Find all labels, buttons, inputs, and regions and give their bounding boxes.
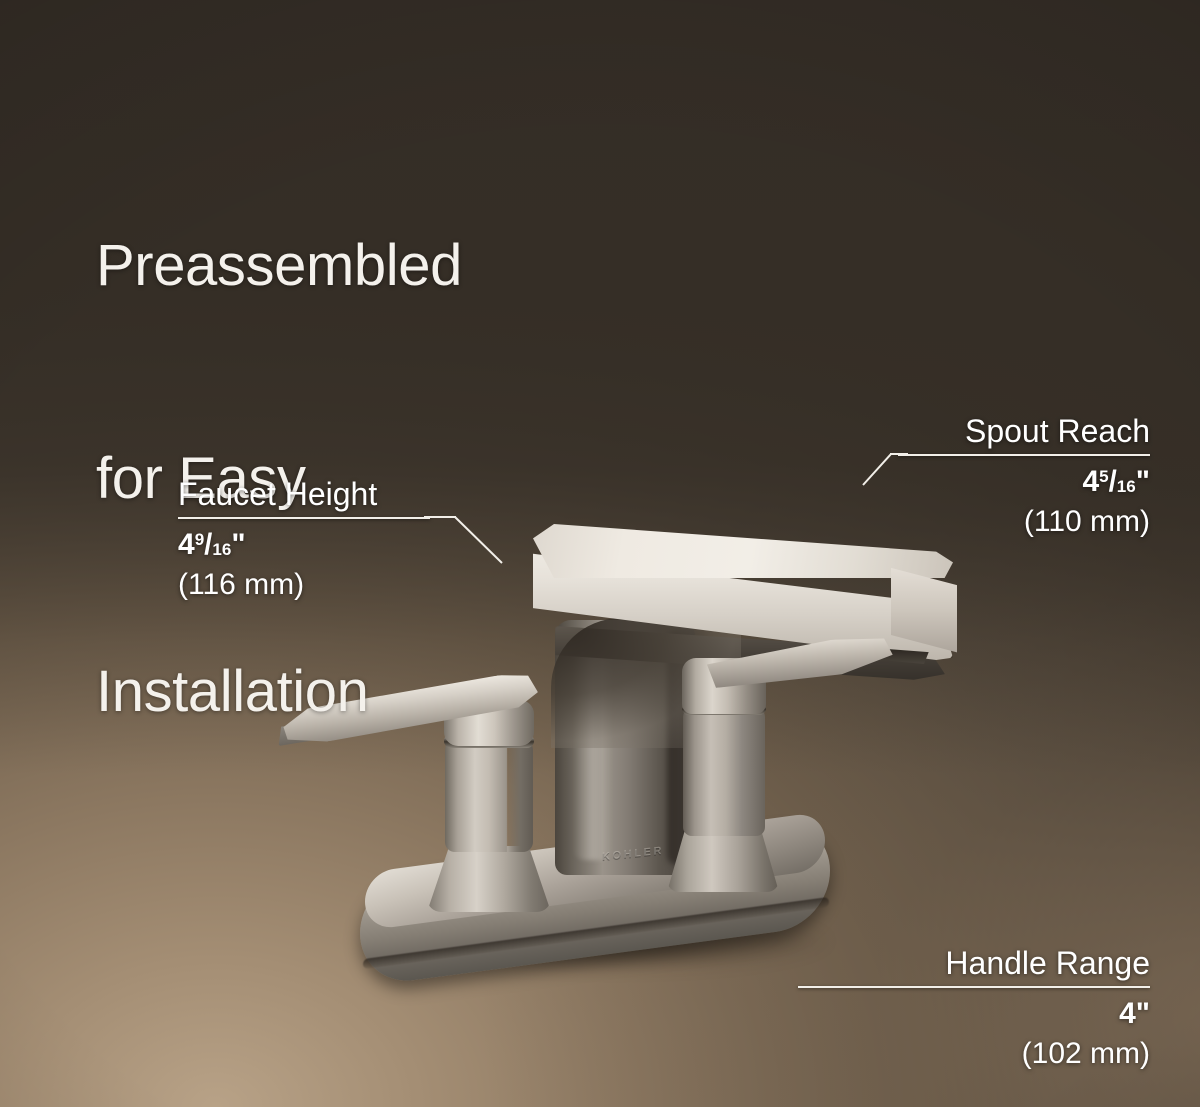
callout-faucet-height-leader	[424, 505, 508, 569]
callout-spout-reach-title: Spout Reach	[898, 412, 1150, 450]
faucet-height-numerator: 9	[195, 530, 204, 549]
callout-handle-range: Handle Range 4" (102 mm)	[798, 944, 1150, 1074]
right-handle-post	[683, 708, 765, 836]
right-handle-base-flare	[667, 830, 779, 892]
spout-reach-denominator: 16	[1117, 477, 1136, 496]
callout-spout-reach-value: 45/16"	[898, 462, 1150, 502]
callout-spout-reach: Spout Reach 45/16" (110 mm)	[898, 412, 1150, 542]
callout-faucet-height-metric: (116 mm)	[178, 565, 430, 605]
callout-faucet-height-rule	[178, 517, 430, 519]
faucet-height-denominator: 16	[212, 540, 231, 559]
callout-faucet-height-title: Faucet Height	[178, 475, 430, 513]
faucet-height-unit: "	[231, 528, 245, 561]
callout-handle-range-rule	[798, 986, 1150, 988]
headline-line-3: Installation	[96, 656, 462, 727]
callout-handle-range-metric: (102 mm)	[798, 1034, 1150, 1074]
handle-range-whole: 4	[1119, 997, 1136, 1030]
callout-spout-reach-leader	[862, 443, 910, 489]
handle-range-unit: "	[1136, 997, 1150, 1030]
spout-reach-whole: 4	[1082, 465, 1099, 498]
product-callout-image: KOHLER Preassembled for Easy Installatio…	[0, 0, 1200, 1107]
faucet-height-whole: 4	[178, 528, 195, 561]
callout-handle-range-value: 4"	[798, 994, 1150, 1034]
spout-reach-numerator: 5	[1099, 467, 1108, 486]
callout-faucet-height-value: 49/16"	[178, 525, 430, 565]
spout-reach-solidus: /	[1109, 465, 1117, 498]
callout-faucet-height: Faucet Height 49/16" (116 mm)	[178, 475, 430, 605]
spout-reach-unit: "	[1136, 465, 1150, 498]
callout-spout-reach-metric: (110 mm)	[898, 502, 1150, 542]
callout-spout-reach-rule	[898, 454, 1150, 456]
headline-line-1: Preassembled	[96, 230, 462, 301]
spout-top-surface	[533, 518, 953, 578]
callout-handle-range-title: Handle Range	[798, 944, 1150, 982]
